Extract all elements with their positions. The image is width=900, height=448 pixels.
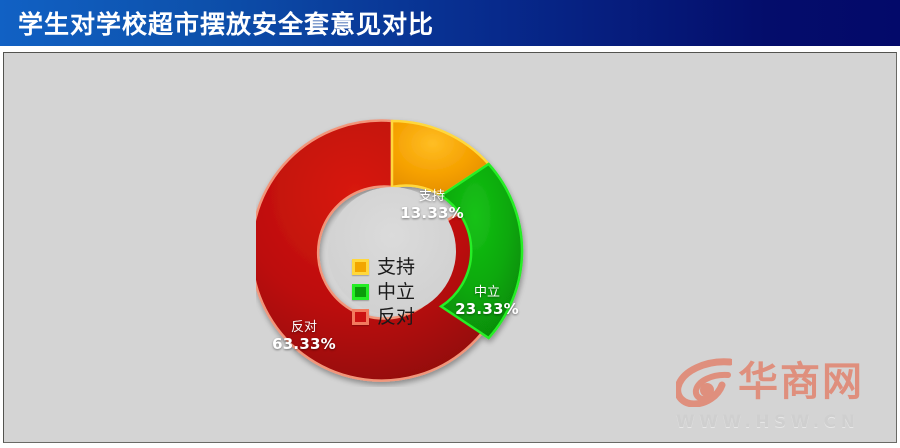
watermark-mark: 华商网 [676, 356, 891, 408]
watermark-brand: 华商网 [738, 362, 864, 402]
legend-label-support: 支持 [377, 258, 415, 277]
header-bar: 学生对学校超市摆放安全套意见对比 [0, 0, 900, 46]
chart-legend: 支持 中立 反对 [352, 255, 442, 330]
donut-chart [256, 115, 528, 387]
legend-swatch-icon-neutral [352, 284, 369, 300]
chart-panel: 支持 13.33% 中立 23.33% 反对 63.33% 支持 中立 反对 [3, 52, 897, 443]
legend-label-neutral: 中立 [377, 283, 415, 302]
legend-item-support[interactable]: 支持 [352, 255, 442, 279]
watermark: 华商网 WWW.HSW.CN [676, 356, 891, 432]
hsw-eye-logo-icon [676, 357, 732, 407]
page-title: 学生对学校超市摆放安全套意见对比 [18, 5, 434, 41]
legend-item-neutral[interactable]: 中立 [352, 280, 442, 304]
watermark-url: WWW.HSW.CN [676, 412, 891, 432]
donut-chart-svg [256, 115, 528, 387]
legend-swatch-icon-oppose [352, 309, 369, 325]
legend-item-oppose[interactable]: 反对 [352, 305, 442, 329]
legend-swatch-icon-support [352, 259, 369, 275]
legend-label-oppose: 反对 [377, 308, 415, 327]
